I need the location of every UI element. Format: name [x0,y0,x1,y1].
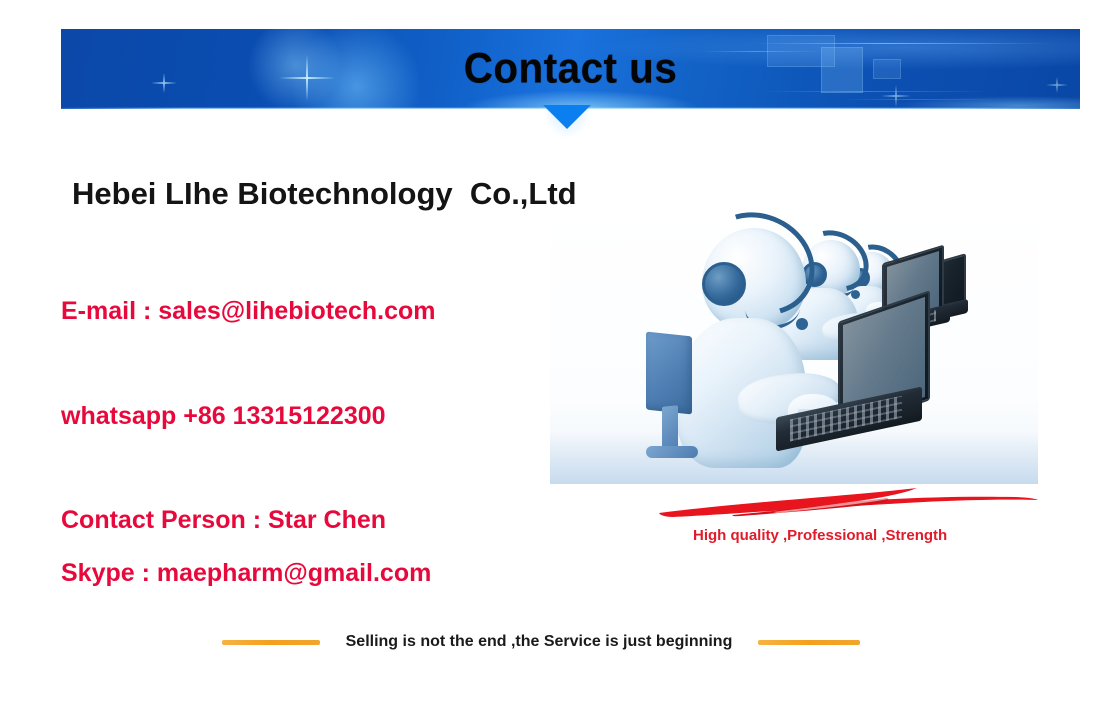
contact-us-slide: Contact us Hebei LIhe Biotechnology Co.,… [0,0,1102,712]
contact-person: Contact Person : Star Chen [61,506,386,535]
red-brush-stroke [655,484,1040,518]
footer-rule-left [222,640,320,645]
page-title: Contact us [92,45,1050,94]
footer-rule-right [758,640,860,645]
banner-tech-line [841,99,1001,100]
contact-whatsapp: whatsapp +86 13315122300 [61,402,386,431]
banner-notch-arrow [543,105,591,129]
banner-background: Contact us [61,29,1080,109]
company-name: Hebei LIhe Biotechnology Co.,Ltd [72,176,577,212]
contact-email: E-mail : sales@lihebiotech.com [61,297,436,326]
header-banner: Contact us [61,29,1080,109]
contact-skype: Skype : maepharm@gmail.com [61,559,431,588]
call-center-photo [550,206,1038,484]
photo-caption: High quality ,Professional ,Strength [693,527,947,544]
footer-tagline: Selling is not the end ,the Service is j… [318,633,760,651]
